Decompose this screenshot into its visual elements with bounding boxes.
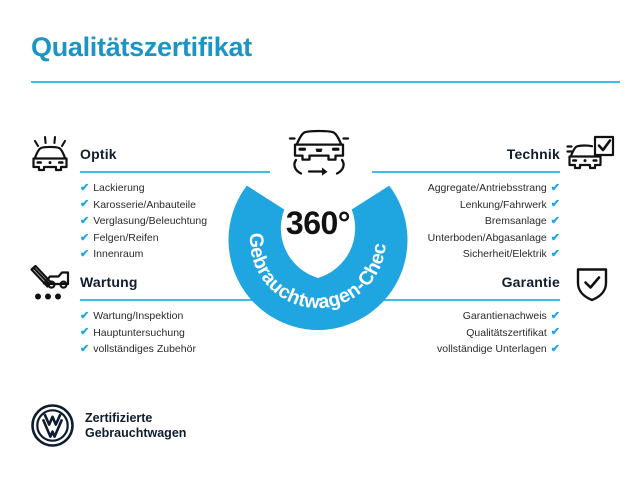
list-item-label: Felgen/Reifen <box>93 230 158 247</box>
list-item-label: Unterboden/Abgasanlage <box>428 230 547 247</box>
volkswagen-logo <box>31 404 74 447</box>
check-icon: ✔ <box>551 199 560 210</box>
check-icon: ✔ <box>80 199 89 210</box>
check-icon: ✔ <box>80 183 89 194</box>
page-title: Qualitätszertifikat <box>31 32 252 63</box>
list-item-label: Sicherheit/Elektrik <box>463 246 547 263</box>
check-icon: ✔ <box>551 311 560 322</box>
list-item-label: Lenkung/Fahrwerk <box>460 197 547 214</box>
list-item-label: vollständige Unterlagen <box>437 341 547 358</box>
check-icon: ✔ <box>80 233 89 244</box>
check-icon: ✔ <box>551 216 560 227</box>
check-icon: ✔ <box>80 311 89 322</box>
check-icon: ✔ <box>80 344 89 355</box>
list-item-label: Innenraum <box>93 246 143 263</box>
footer-brand-text: Zertifizierte Gebrauchtwagen <box>85 411 186 441</box>
check-icon: ✔ <box>80 216 89 227</box>
check-icon: ✔ <box>80 249 89 260</box>
list-item-label: Garantienachweis <box>463 308 547 325</box>
list-item-label: Qualitätszertifikat <box>466 325 547 342</box>
shield-check-icon <box>572 263 612 310</box>
title-divider <box>31 81 620 83</box>
list-item: ✔vollständiges Zubehör <box>80 341 270 358</box>
list-item-label: Aggregate/Antriebsstrang <box>428 180 547 197</box>
list-item-label: Lackierung <box>93 180 144 197</box>
check-icon: ✔ <box>80 327 89 338</box>
car-rotation-icon <box>283 124 355 182</box>
list-item: vollständige Unterlagen✔ <box>372 341 560 358</box>
list-item-label: Karosserie/Anbauteile <box>93 197 196 214</box>
check-icon: ✔ <box>551 327 560 338</box>
certificate-page: Qualitätszertifikat Optik <box>0 0 640 480</box>
footer-brand: Zertifizierte Gebrauchtwagen <box>31 404 186 447</box>
car-checkbox-icon <box>566 134 616 181</box>
check-icon: ✔ <box>551 183 560 194</box>
check-icon: ✔ <box>551 249 560 260</box>
list-item-label: Wartung/Inspektion <box>93 308 183 325</box>
list-item-label: vollständiges Zubehör <box>93 341 196 358</box>
list-item-label: Hauptuntersuchung <box>93 325 185 342</box>
list-item-label: Bremsanlage <box>485 213 547 230</box>
check-icon: ✔ <box>551 344 560 355</box>
badge-degrees: 360° <box>228 205 408 242</box>
car-polish-shine-icon <box>27 134 73 181</box>
wrench-car-service-icon <box>27 263 73 310</box>
check-icon: ✔ <box>551 233 560 244</box>
list-item-label: Verglasung/Beleuchtung <box>93 213 207 230</box>
